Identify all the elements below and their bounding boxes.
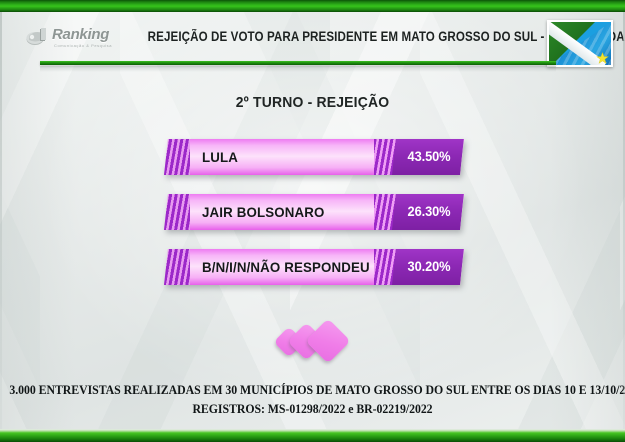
bar-left-stripes xyxy=(164,194,190,230)
brand-logo[interactable]: Ranking Comunicação & Pesquisa xyxy=(26,26,132,54)
left-frame-edge xyxy=(0,12,2,429)
bar-row[interactable]: JAIR BOLSONARO 26.30% xyxy=(164,194,464,230)
ranking-logo-icon xyxy=(26,27,52,47)
bar-label: LULA xyxy=(202,139,238,175)
page-title: REJEIÇÃO DE VOTO PARA PRESIDENTE EM MATO… xyxy=(148,29,488,44)
bar-row[interactable]: LULA 43.50% xyxy=(164,139,464,175)
bottom-green-bar xyxy=(0,429,625,442)
footer-methodology-line: 3.000 ENTREVISTAS REALIZADAS EM 30 MUNIC… xyxy=(9,381,615,400)
footer-registration-line: REGISTROS: MS-01298/2022 e BR-02219/2022 xyxy=(9,400,615,419)
footer: 3.000 ENTREVISTAS REALIZADAS EM 30 MUNIC… xyxy=(0,381,625,419)
brand-logo-subtitle: Comunicação & Pesquisa xyxy=(54,43,112,48)
top-green-bar xyxy=(0,0,625,12)
slide-root: Ranking Comunicação & Pesquisa REJEIÇÃO … xyxy=(0,0,625,442)
title-divider xyxy=(40,61,556,65)
bar-percent-label: 43.50% xyxy=(396,139,463,175)
title-divider-shadow xyxy=(40,66,556,72)
bar-percent-label: 26.30% xyxy=(396,194,463,230)
bar-left-stripes xyxy=(164,139,190,175)
header: Ranking Comunicação & Pesquisa REJEIÇÃO … xyxy=(0,12,625,64)
bar-label: JAIR BOLSONARO xyxy=(202,194,324,230)
mato-grosso-do-sul-flag-icon xyxy=(547,20,613,67)
bar-row[interactable]: B/N/I/N/NÃO RESPONDEU 30.20% xyxy=(164,249,464,285)
brand-logo-wordmark: Ranking xyxy=(52,26,109,43)
diamond-large xyxy=(305,318,350,363)
chart-subtitle: 2º TURNO - REJEIÇÃO xyxy=(22,94,603,111)
bar-percent-label: 30.20% xyxy=(396,249,463,285)
triple-diamond-ornament-icon xyxy=(276,318,360,368)
bar-label: B/N/I/N/NÃO RESPONDEU xyxy=(202,249,370,285)
bar-left-stripes xyxy=(164,249,190,285)
bar-chart: LULA 43.50% JAIR BOLSONARO 26.30% B/N/I/… xyxy=(164,139,464,304)
